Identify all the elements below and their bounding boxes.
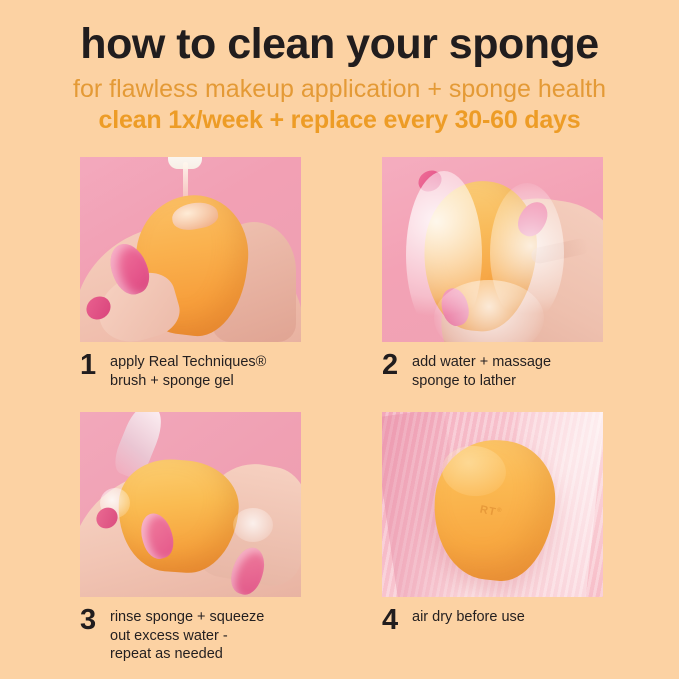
step-photo-4: RT® xyxy=(382,412,603,597)
step-caption-4: 4 air dry before use xyxy=(382,607,603,634)
step-caption-3: 3 rinse sponge + squeeze out excess wate… xyxy=(80,607,301,664)
steps-row-top: 1 apply Real Techniques® brush + sponge … xyxy=(0,157,679,412)
photo-backdrop xyxy=(382,157,603,342)
steps-row-bottom: 3 rinse sponge + squeeze out excess wate… xyxy=(0,412,679,667)
step-card-3: 3 rinse sponge + squeeze out excess wate… xyxy=(80,412,301,664)
step-number: 1 xyxy=(80,352,110,379)
photo-backdrop: RT® xyxy=(382,412,603,597)
water-splash xyxy=(233,508,273,542)
step-photo-3 xyxy=(80,412,301,597)
rt-logo-text: RT xyxy=(479,504,498,519)
step-description: air dry before use xyxy=(412,607,603,627)
subtitle-line-2: clean 1x/week + replace every 30-60 days xyxy=(0,106,679,134)
step-card-4: RT® 4 air dry before use xyxy=(382,412,603,634)
steps-grid: 1 apply Real Techniques® brush + sponge … xyxy=(0,157,679,667)
step-card-2: 2 add water + massage sponge to lather xyxy=(382,157,603,390)
step-caption-2: 2 add water + massage sponge to lather xyxy=(382,352,603,390)
step-caption-1: 1 apply Real Techniques® brush + sponge … xyxy=(80,352,301,390)
page-title: how to clean your sponge xyxy=(0,21,679,67)
step-photo-2 xyxy=(382,157,603,342)
rt-logo: RT® xyxy=(479,504,503,520)
step-description: apply Real Techniques® brush + sponge ge… xyxy=(110,352,301,390)
step-number: 3 xyxy=(80,607,110,634)
step-photo-1 xyxy=(80,157,301,342)
photo-backdrop xyxy=(80,412,301,597)
subtitle-line-1: for flawless makeup application + sponge… xyxy=(0,75,679,103)
photo-backdrop xyxy=(80,157,301,342)
step-description: rinse sponge + squeeze out excess water … xyxy=(110,607,301,664)
step-number: 4 xyxy=(382,607,412,634)
step-number: 2 xyxy=(382,352,412,379)
registered-mark-icon: ® xyxy=(496,507,503,514)
header: how to clean your sponge for flawless ma… xyxy=(0,0,679,134)
step-card-1: 1 apply Real Techniques® brush + sponge … xyxy=(80,157,301,390)
step-description: add water + massage sponge to lather xyxy=(412,352,603,390)
infographic-page: how to clean your sponge for flawless ma… xyxy=(0,0,679,679)
